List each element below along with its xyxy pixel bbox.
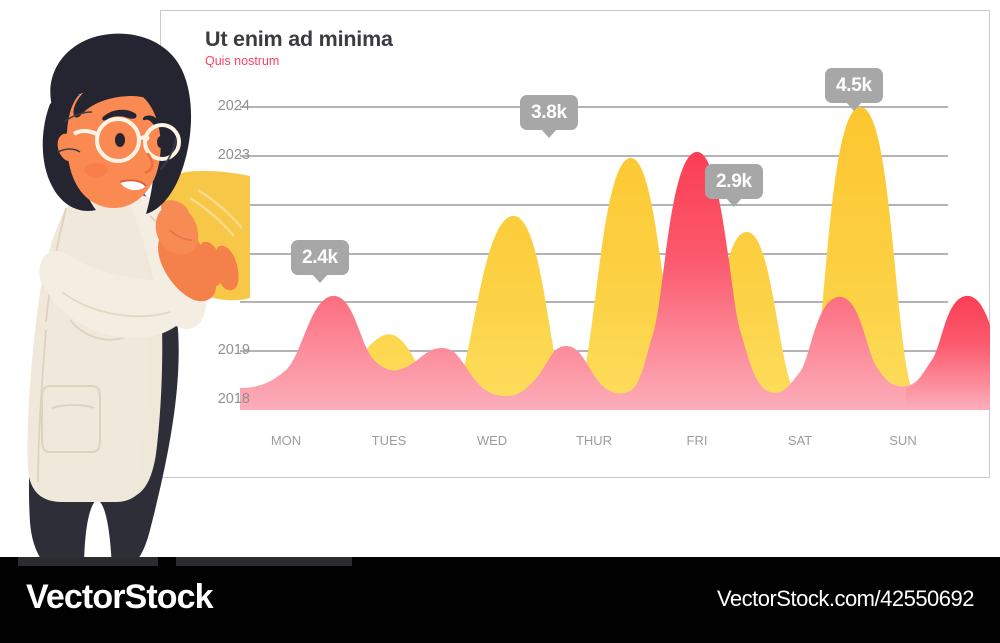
watermark-tab-right	[176, 557, 352, 566]
data-badge-thur-label: 3.8k	[531, 102, 567, 124]
watermark-url: VectorStock.com/42550692	[717, 586, 974, 612]
data-badge-thur[interactable]: 3.8k	[520, 95, 578, 130]
scientist-illustration	[0, 30, 250, 570]
data-badge-fri[interactable]: 2.9k	[705, 164, 763, 199]
x-tick-tues: TUES	[349, 433, 429, 448]
badge-tail-icon	[846, 102, 862, 111]
x-tick-fri: FRI	[657, 433, 737, 448]
series-area-pink-tail	[906, 296, 990, 410]
x-tick-mon: MON	[246, 433, 326, 448]
x-tick-sat: SAT	[760, 433, 840, 448]
watermark-tab-left	[18, 557, 158, 566]
data-badge-mon[interactable]: 2.4k	[291, 240, 349, 275]
x-tick-sun: SUN	[863, 433, 943, 448]
scientist-svg	[0, 30, 250, 570]
badge-tail-icon	[312, 274, 328, 283]
badge-tail-icon	[726, 198, 742, 207]
eye-left	[115, 133, 125, 147]
watermark-logo: VectorStock	[26, 578, 213, 617]
eye-right	[157, 136, 165, 148]
x-tick-thur: THUR	[554, 433, 634, 448]
data-badge-fri-label: 2.9k	[716, 171, 752, 193]
screenshot-root: 2024 2023 2022 2021 2020 2019 2018 MON T…	[0, 0, 1000, 643]
data-badge-mon-label: 2.4k	[302, 247, 338, 269]
data-badge-sun[interactable]: 4.5k	[825, 68, 883, 103]
badge-tail-icon	[541, 129, 557, 138]
blush-cheek	[84, 163, 108, 177]
data-badge-sun-label: 4.5k	[836, 75, 872, 97]
x-tick-wed: WED	[452, 433, 532, 448]
